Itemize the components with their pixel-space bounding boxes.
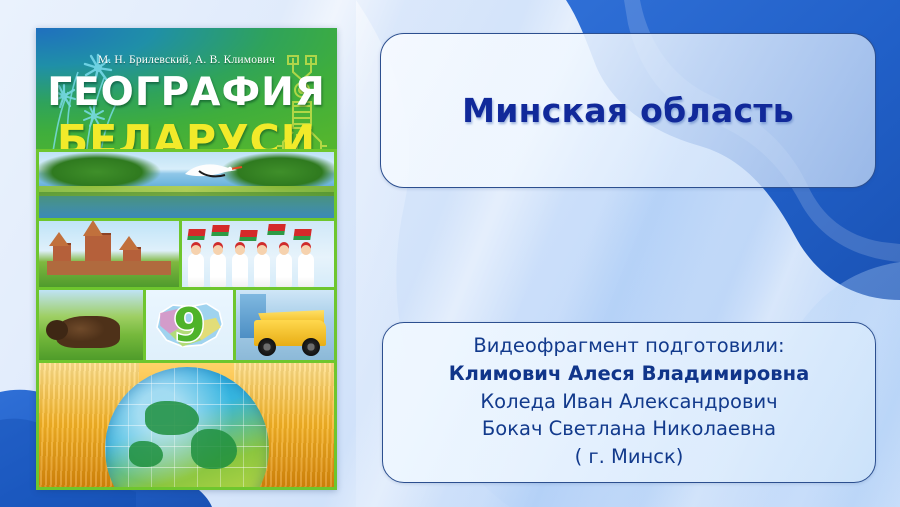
book-authors: М. Н. Брилевский, А. В. Климович (36, 54, 337, 66)
globe-landmass (191, 429, 237, 469)
folk-dancer-figure (188, 253, 204, 287)
wheat-and-globe-photo (39, 363, 334, 487)
castle-roof-left (49, 232, 69, 246)
folk-dancers-with-flags-photo (182, 221, 334, 287)
book-title-line1: ГЕОГРАФИЯ (36, 70, 337, 115)
book-photo-collage: 9 (36, 149, 337, 490)
book-title-line2: БЕЛАРУСИ (36, 116, 337, 149)
folk-dancer-figure (254, 253, 270, 287)
mir-castle-photo (39, 221, 179, 287)
slide-title: Минская область (462, 91, 794, 130)
castle-wall (47, 261, 171, 275)
belarus-flag-icon (293, 229, 312, 240)
stork-bird-icon (181, 158, 243, 184)
castle-roof-center (83, 221, 103, 236)
folk-dancer-figure (210, 253, 226, 287)
credits-panel: Видеофрагмент подготовили: Климович Алес… (382, 322, 876, 483)
water-reflection (39, 192, 334, 218)
folk-dancer-figure (298, 253, 314, 287)
globe-photo (105, 367, 269, 487)
truck-wheel (258, 338, 276, 356)
belarus-flag-icon (211, 225, 230, 236)
credits-line-author-3: Бокач Светлана Николаевна (482, 415, 776, 443)
credits-line-heading: Видеофрагмент подготовили: (473, 332, 784, 360)
presentation-slide: М. Н. Брилевский, А. В. Климович ГЕОГРАФ… (0, 0, 900, 507)
grade-number: 9 (173, 302, 205, 348)
geography-textbook-cover-image: М. Н. Брилевский, А. В. Климович ГЕОГРАФ… (36, 28, 337, 490)
bison-photo (39, 290, 143, 360)
truck-wheel (302, 338, 320, 356)
belaz-dump-truck-photo (236, 290, 334, 360)
globe-landmass (145, 401, 199, 435)
bison-figure (56, 316, 120, 348)
folk-dancer-figure (232, 253, 248, 287)
credits-line-author-2: Коледа Иван Александрович (480, 388, 777, 416)
book-title-band: М. Н. Брилевский, А. В. Климович ГЕОГРАФ… (36, 28, 337, 149)
credits-line-city: ( г. Минск) (575, 443, 684, 471)
credits-line-author-1: Климович Алеся Владимировна (449, 360, 810, 388)
belarus-flag-icon (267, 224, 286, 235)
folk-dancer-figure (276, 253, 292, 287)
belarus-flag-icon (187, 229, 206, 240)
belarus-flag-icon (239, 230, 258, 241)
globe-landmass (129, 441, 163, 467)
belarus-map-photo: 9 (146, 290, 233, 360)
river-with-stork-photo (39, 152, 334, 218)
castle-roof-right (119, 236, 139, 250)
title-panel: Минская область (380, 33, 876, 188)
